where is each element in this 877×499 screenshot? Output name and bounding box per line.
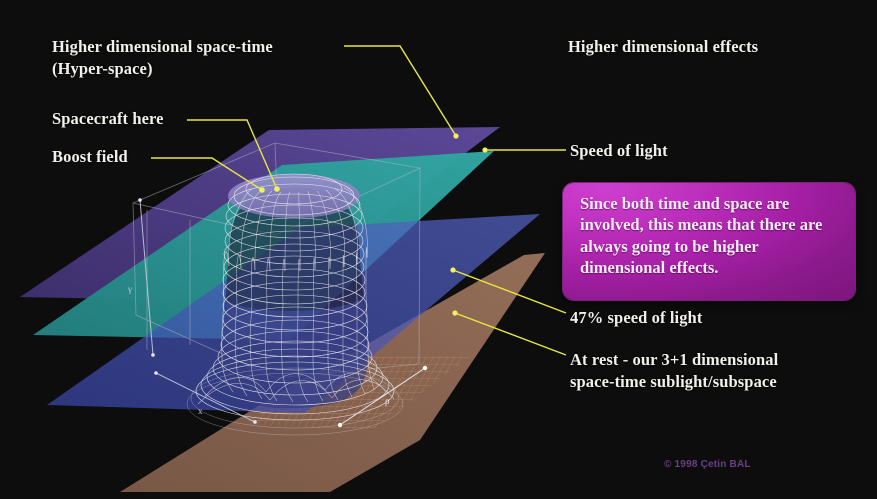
label-higher-dimensional-space-time: Higher dimensional space-time (Hyper-spa… (52, 36, 273, 80)
axis-gamma-label: γ (127, 284, 132, 294)
copyright-notice: © 1998 Çetin BAL (664, 459, 751, 470)
label-at-rest: At rest - our 3+1 dimensional space-time… (570, 349, 778, 393)
callout-text: Since both time and space are involved, … (580, 193, 839, 279)
leader-hyperspace (344, 46, 456, 136)
label-speed-of-light: Speed of light (570, 140, 668, 162)
label-higher-dimensional-effects: Higher dimensional effects (568, 36, 758, 58)
label-boost-field: Boost field (52, 146, 128, 168)
label-spacecraft-here: Spacecraft here (52, 108, 164, 130)
callout-box: Since both time and space are involved, … (563, 183, 855, 300)
diagram-canvas: ρ x γ (0, 0, 877, 499)
label-47-percent-speed-of-light: 47% speed of light (570, 307, 702, 329)
axis-rho-label: ρ (385, 396, 390, 406)
